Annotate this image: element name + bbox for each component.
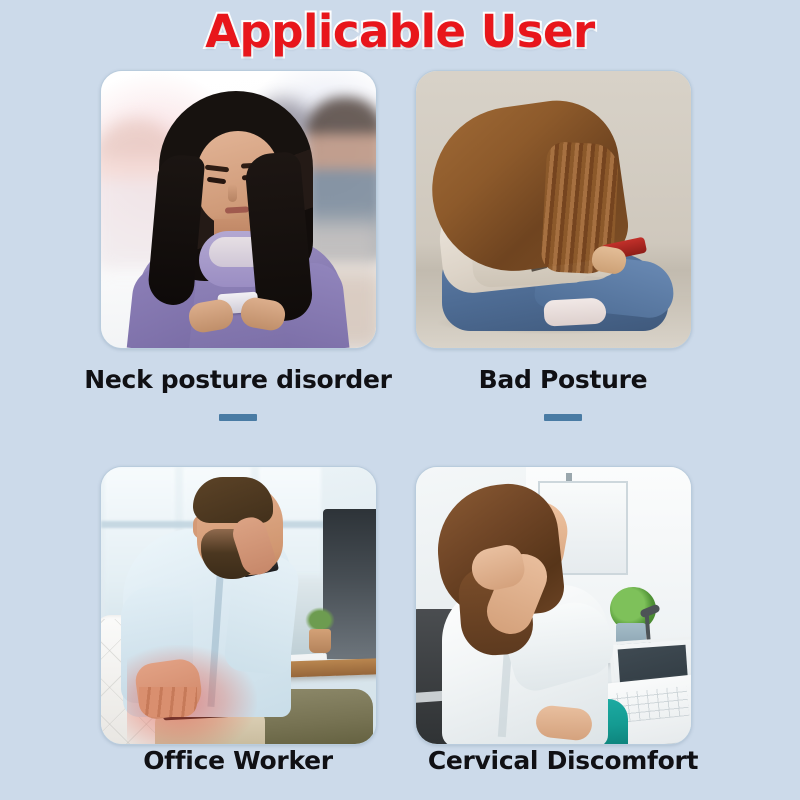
caption-underline-dash [219, 414, 257, 421]
card-caption-bad-posture: Bad Posture [383, 365, 743, 394]
photo-office-worker [101, 467, 376, 744]
card-caption-neck-posture-disorder: Neck posture disorder [58, 365, 418, 394]
card-cell [415, 466, 692, 745]
card-cell [415, 70, 692, 349]
page-title: Applicable User [0, 4, 800, 60]
applicable-user-grid [0, 0, 800, 800]
card-caption-office-worker: Office Worker [58, 746, 418, 775]
card-cell [100, 70, 377, 349]
photo-bad-posture [416, 71, 691, 348]
card-caption-cervical-discomfort: Cervical Discomfort [383, 746, 743, 775]
photo-card-neck-posture-disorder[interactable] [100, 70, 377, 349]
card-cell [100, 466, 377, 745]
photo-cervical-discomfort [416, 467, 691, 744]
photo-card-bad-posture[interactable] [415, 70, 692, 349]
photo-neck-posture-disorder [101, 71, 376, 348]
caption-underline-dash [544, 414, 582, 421]
photo-card-cervical-discomfort[interactable] [415, 466, 692, 745]
photo-card-office-worker[interactable] [100, 466, 377, 745]
